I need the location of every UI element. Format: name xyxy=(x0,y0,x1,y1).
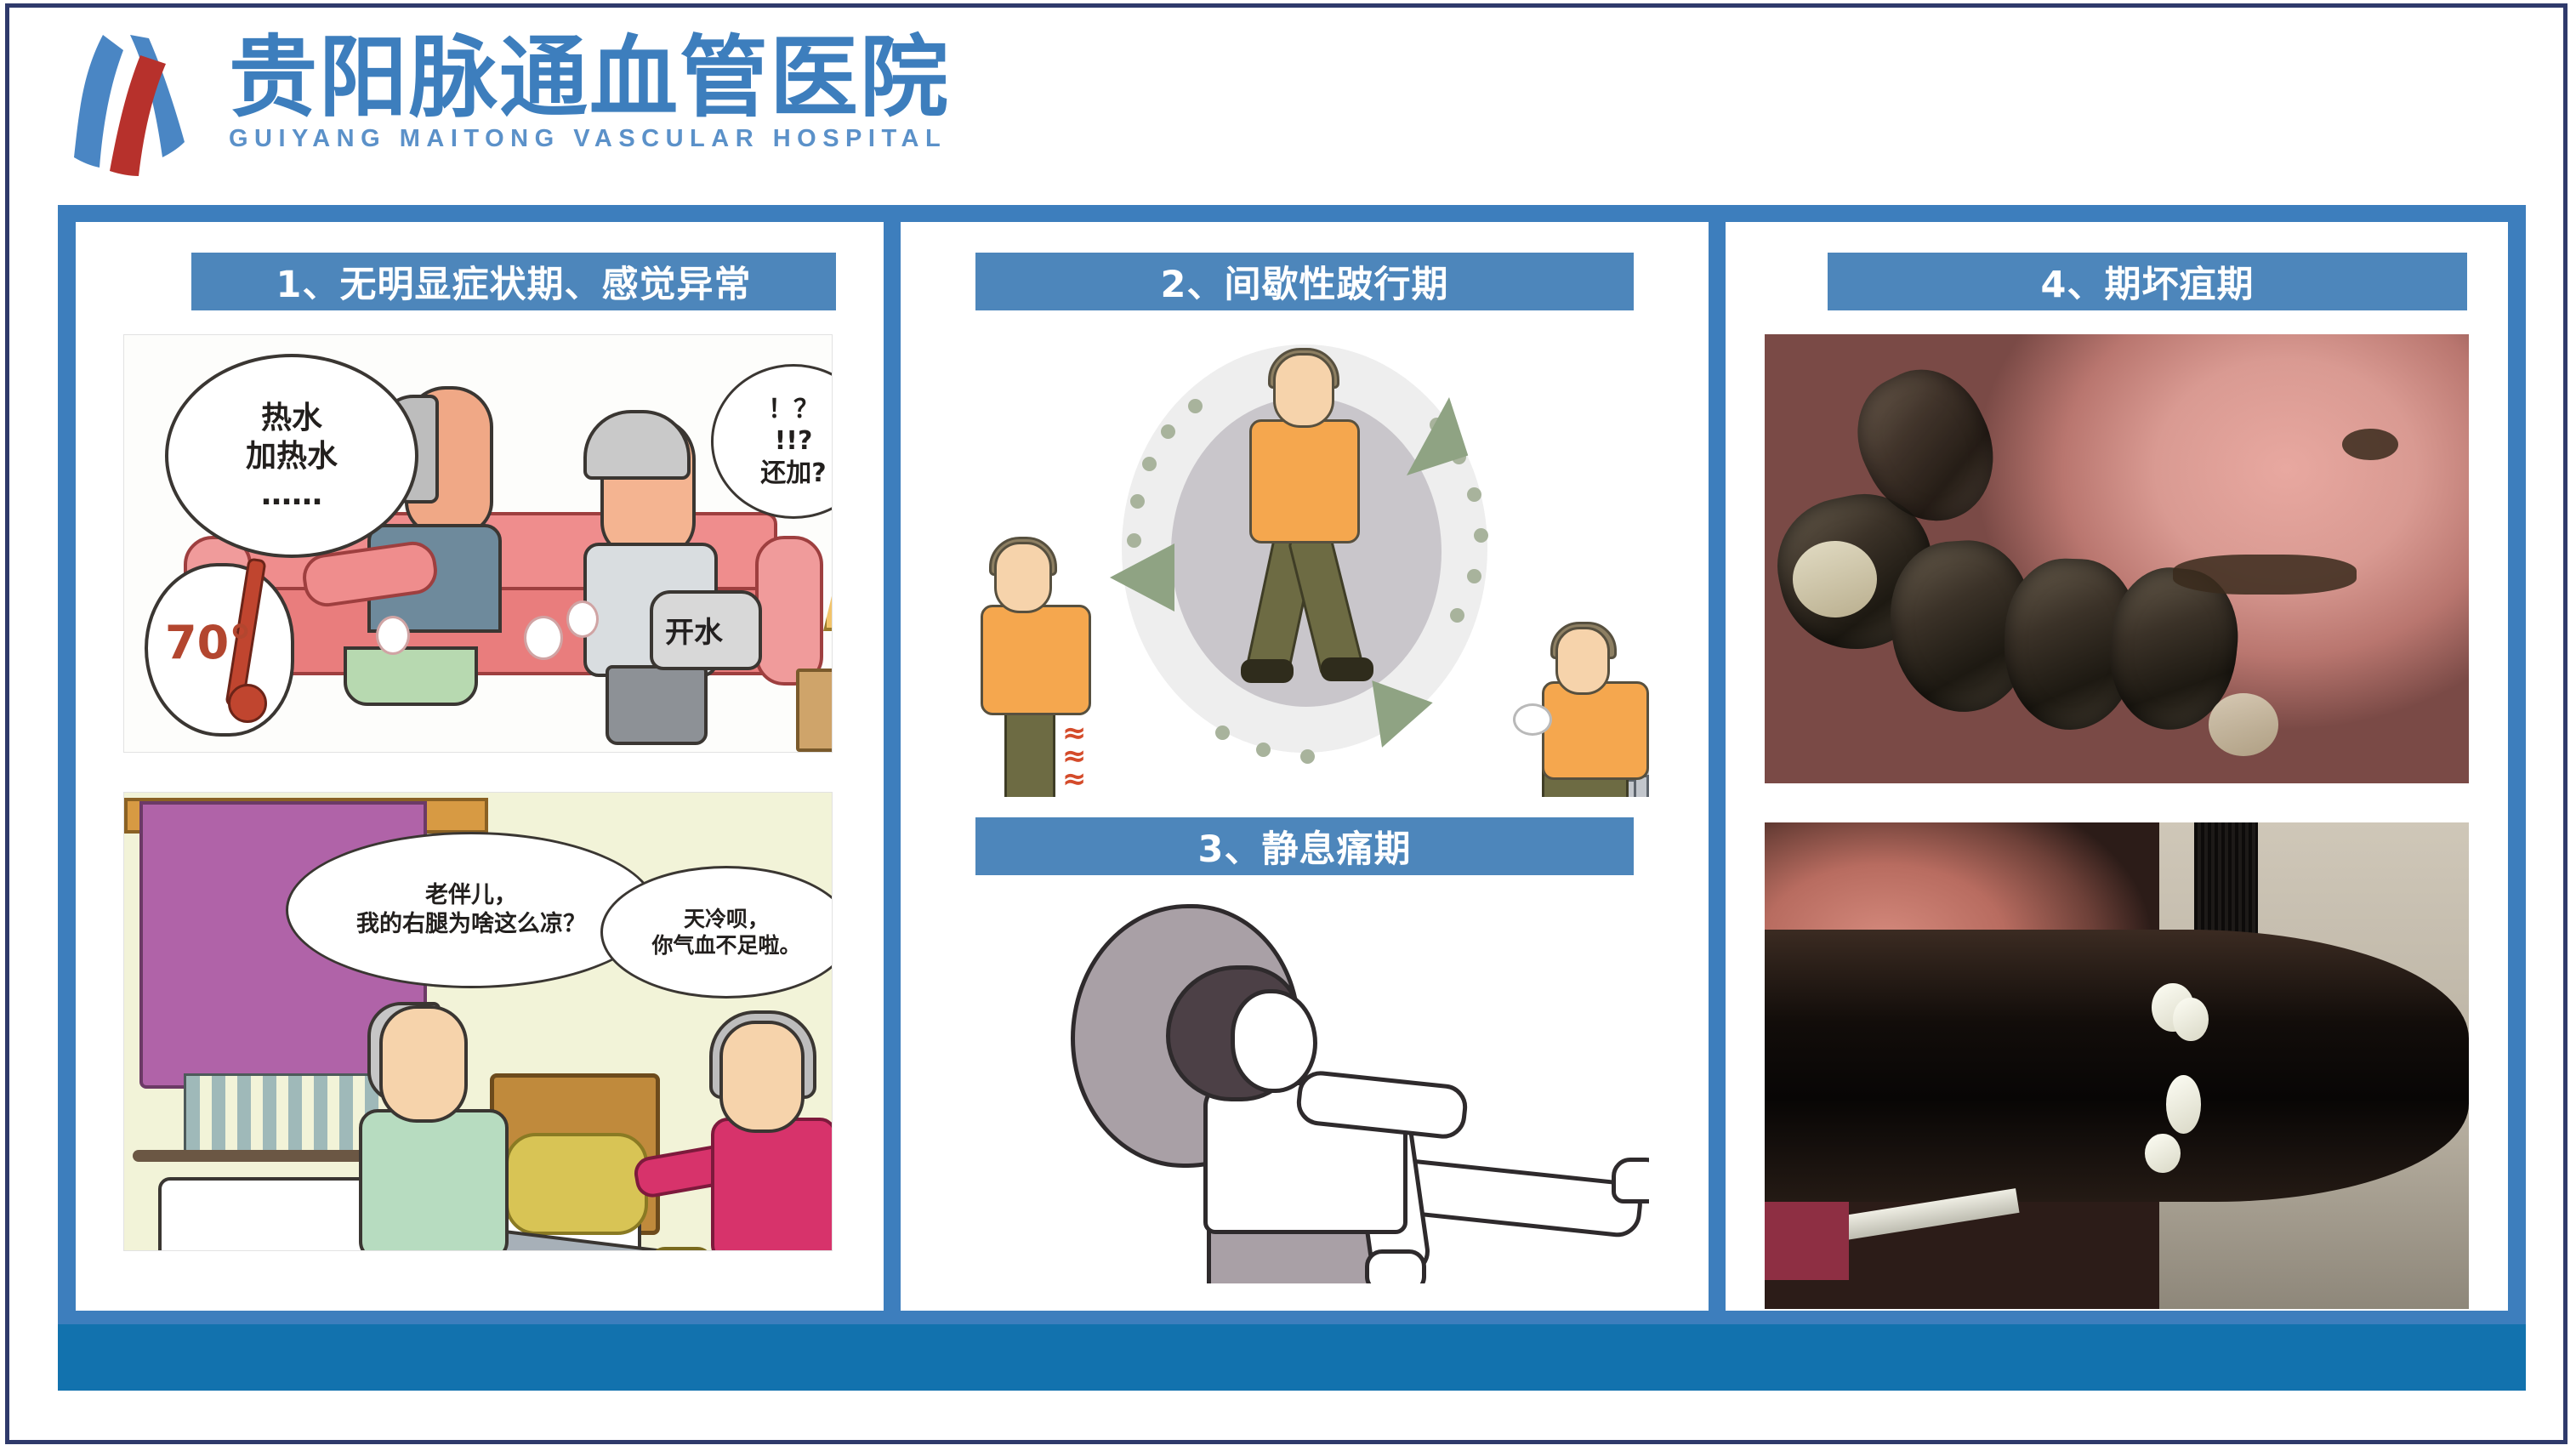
speech-bubble-surprise: ！？ !!? 还加? xyxy=(711,364,833,519)
ring-dot xyxy=(1450,608,1464,623)
page-frame: 贵阳脉通血管医院 GUIYANG MAITONG VASCULAR HOSPIT… xyxy=(5,3,2567,1444)
figure-standing-hair xyxy=(583,410,691,480)
stages-board: 1、无明显症状期、感觉异常 xyxy=(58,205,2526,1391)
limper-jacket xyxy=(981,605,1091,715)
walker-jacket xyxy=(1249,419,1360,543)
illustration-bed-scene: 老伴儿， 我的右腿为啥这么凉？ 天冷呗， 你气血不足啦。 xyxy=(123,792,833,1251)
gauze-pellet xyxy=(2145,1134,2180,1173)
ring-dot xyxy=(1300,749,1315,764)
ring-dot xyxy=(1142,457,1157,471)
hospital-wordmark: 贵阳脉通血管医院 GUIYANG MAITONG VASCULAR HOSPIT… xyxy=(229,31,950,153)
necrotic-margin xyxy=(2173,555,2356,595)
steam-puff-3 xyxy=(376,616,410,655)
bed-bubble-r-line-1: 天冷呗， xyxy=(684,906,769,932)
steam-puff-2 xyxy=(566,600,599,638)
walker-head xyxy=(1273,353,1334,428)
bubble-r-line-2: !!? xyxy=(775,425,813,458)
bubble-line-2: 加热水 xyxy=(246,437,338,475)
necrotic-limb xyxy=(1765,930,2469,1202)
hospital-logo-icon xyxy=(67,30,203,179)
steam-puff-1 xyxy=(524,616,563,660)
stage-column-3: 4、期坏疽期 xyxy=(1726,222,2508,1311)
ring-dot xyxy=(1467,569,1481,583)
sofa-arm-right-shape xyxy=(755,536,823,686)
sitter-jacket xyxy=(1542,681,1649,780)
bubble-line-3: …… xyxy=(261,475,322,514)
skin-lesion xyxy=(2342,429,2398,460)
patient-foot-bent xyxy=(1365,1249,1426,1283)
limper-head xyxy=(994,542,1052,613)
stage-column-2: 2、间歇性跛行期 xyxy=(901,222,1709,1311)
illustration-hot-water-scene: 开水 70° 热水 加热水 …… ！？ !!? xyxy=(123,334,833,753)
bubble-r-line-1: ！？ xyxy=(768,394,819,426)
ring-dot xyxy=(1188,399,1203,413)
hospital-name-cn: 贵阳脉通血管医院 xyxy=(229,31,950,123)
sitter-head xyxy=(1555,627,1610,695)
ring-dot xyxy=(1215,725,1230,740)
stage-2-title-banner: 2、间歇性跛行期 xyxy=(975,253,1634,310)
thermometer-reading: 70° xyxy=(165,616,252,669)
side-table-shape xyxy=(796,669,833,752)
red-drape-cloth xyxy=(1765,1202,1849,1280)
stage-columns: 1、无明显症状期、感觉异常 xyxy=(76,222,2508,1311)
toe-nail xyxy=(1793,541,1877,617)
patient-face xyxy=(1231,989,1317,1093)
bubble-line-1: 热水 xyxy=(261,399,322,437)
stage-1-title: 1、无明显症状期、感觉异常 xyxy=(276,255,752,308)
arrow-triangle-left xyxy=(1110,543,1174,612)
figure-standing-legs xyxy=(606,665,708,745)
toe-nail xyxy=(2209,693,2279,756)
gauze-pellet xyxy=(2173,998,2208,1041)
stage-4-title-banner: 4、期坏疽期 xyxy=(1828,253,2467,310)
exhaustion-puff-icon xyxy=(1513,703,1552,736)
bed-bubble-l-line-2: 我的右腿为啥这么凉？ xyxy=(356,910,586,939)
lamp-shade-shape xyxy=(823,578,833,631)
speech-bubble-hot-water: 热水 加热水 …… xyxy=(165,354,418,558)
bed-bubble-r-line-2: 你气血不足啦。 xyxy=(651,932,800,959)
ring-dot xyxy=(1161,424,1175,439)
wife-head xyxy=(719,1021,805,1133)
husband-head xyxy=(379,1005,468,1123)
bubble-r-line-3: 还加? xyxy=(760,458,826,490)
stage-1-title-banner: 1、无明显症状期、感觉异常 xyxy=(191,253,836,310)
ring-dot xyxy=(1474,528,1488,543)
husband-body xyxy=(359,1109,509,1251)
wife-body xyxy=(711,1118,833,1251)
pillow-shape xyxy=(505,1133,648,1235)
clinical-photo-toe-gangrene xyxy=(1765,334,2469,783)
thermometer-bulb xyxy=(228,684,267,723)
husband-slipper-right xyxy=(650,1247,713,1251)
stage-3-title-banner: 3、静息痛期 xyxy=(975,817,1634,875)
walker-shoe-left xyxy=(1241,659,1294,683)
bed-bubble-l-line-1: 老伴儿， xyxy=(425,881,517,910)
illustration-rest-pain-scene xyxy=(960,884,1649,1283)
ring-dot xyxy=(1256,743,1271,757)
stage-2-title: 2、间歇性跛行期 xyxy=(1161,255,1449,308)
pain-zigzag-icon: ≈≈≈ xyxy=(1062,722,1087,792)
limper-leg xyxy=(1004,705,1055,797)
speech-bubble-cold-leg: 老伴儿， 我的右腿为啥这么凉？ xyxy=(286,832,657,988)
kettle-label: 开水 xyxy=(665,609,723,651)
stage-column-1: 1、无明显症状期、感觉异常 xyxy=(76,222,884,1311)
gauze-pellet xyxy=(2166,1075,2201,1134)
ring-dot xyxy=(1130,494,1145,509)
patient-foot-extended xyxy=(1612,1158,1649,1203)
board-bottom-bar xyxy=(58,1324,2526,1391)
hospital-name-en: GUIYANG MAITONG VASCULAR HOSPITAL xyxy=(229,125,950,153)
stage-4-title: 4、期坏疽期 xyxy=(2041,255,2255,308)
stage-3-title: 3、静息痛期 xyxy=(1198,820,1412,873)
clinical-photo-leg-necrosis xyxy=(1765,822,2469,1309)
illustration-walking-scene: ≈≈≈ xyxy=(960,324,1649,797)
ring-dot xyxy=(1467,487,1481,502)
foot-basin-shape xyxy=(344,646,478,706)
walker-shoe-right xyxy=(1321,657,1373,681)
header: 贵阳脉通血管医院 GUIYANG MAITONG VASCULAR HOSPIT… xyxy=(9,8,2572,202)
